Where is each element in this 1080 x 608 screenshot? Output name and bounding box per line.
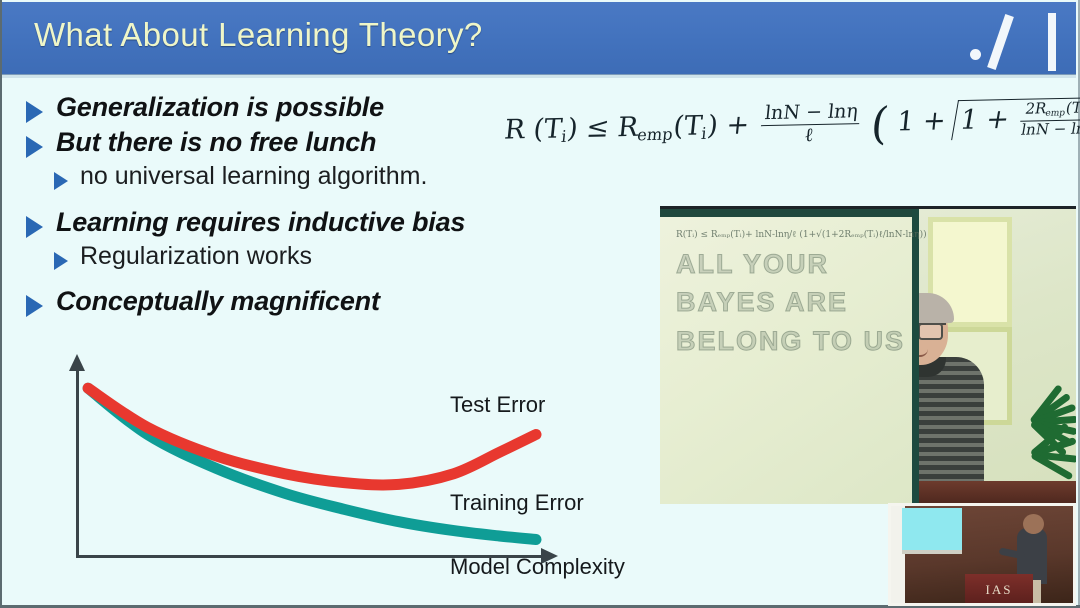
list-item-label: But there is no free lunch <box>56 127 376 158</box>
list-item-label: Conceptually magnificent <box>56 286 380 317</box>
list-item-label: Learning requires inductive bias <box>56 207 465 238</box>
list-item: Learning requires inductive bias <box>26 207 646 238</box>
formula-fraction-1: lnN − lnη ℓ <box>759 102 862 147</box>
list-item-label: Regularization works <box>80 242 312 271</box>
frac2-num-rest: (T <box>1064 99 1080 117</box>
triangle-bullet-icon <box>26 216 43 238</box>
x-axis-label: Model Complexity <box>450 554 625 580</box>
formula-fraction-2: 2Remp(Ti)ℓ lnN − lnη <box>1017 100 1080 138</box>
formula-lhs-close: ) <box>566 113 580 144</box>
list-item-label: Generalization is possible <box>56 92 384 123</box>
triangle-bullet-icon <box>54 172 68 190</box>
whiteboard-surface: R(Tᵢ) ≤ Rₑₘₚ(Tᵢ)+ lnN-lnη/ℓ (1+√(1+2Rₑₘₚ… <box>660 209 919 504</box>
series-label-training-error: Training Error <box>450 490 584 516</box>
formula-paren-open: ( <box>869 99 891 150</box>
page-title: What About Learning Theory? <box>34 16 483 54</box>
vertical-bar-icon <box>1048 13 1056 71</box>
whiteboard-photo: R(Tᵢ) ≤ Rₑₘₚ(Tᵢ)+ lnN-lnη/ℓ (1+√(1+2Rₑₘₚ… <box>660 206 1076 504</box>
formula-plus-2: + <box>921 105 947 136</box>
formula-relation: ≤ <box>585 112 611 143</box>
error-vs-complexity-chart: Test Error Training Error Model Complexi… <box>46 352 666 597</box>
pip-speaker-head <box>1023 514 1044 534</box>
slash-icon <box>987 14 1014 70</box>
brand-logo <box>960 8 1064 72</box>
handwritten-formula: R (Ti) ≤ Remp(Ti) + lnN − lnη ℓ ( 1 + 1 … <box>505 100 1080 198</box>
picture-in-picture-video[interactable]: IAS <box>888 503 1076 606</box>
triangle-bullet-icon <box>26 101 43 123</box>
frac2-num-sub: emp <box>1044 109 1065 119</box>
list-item: Regularization works <box>26 242 646 271</box>
fraction-numerator: lnN − lnη <box>761 102 862 126</box>
formula-lhs: R (T <box>503 113 564 145</box>
whiteboard-formula-text: R(Tᵢ) ≤ Rₑₘₚ(Tᵢ)+ lnN-lnη/ℓ (1+√(1+2Rₑₘₚ… <box>676 229 927 240</box>
pip-projection-screen <box>902 508 962 554</box>
triangle-bullet-icon <box>26 295 43 317</box>
triangle-bullet-icon <box>54 252 68 270</box>
slide-border-left <box>0 0 2 608</box>
formula-plus: + <box>725 110 751 141</box>
list-item-label: no universal learning algorithm. <box>80 162 427 191</box>
formula-rhs-arg-close: ) <box>706 110 720 141</box>
triangle-bullet-icon <box>26 136 43 158</box>
formula-sqrt: 1 + 2Remp(Ti)ℓ lnN − lnη <box>951 97 1080 140</box>
formula-one: 1 <box>896 106 916 137</box>
pip-podium-label: IAS <box>965 582 1033 598</box>
sqrt-lead: 1 + <box>958 104 1012 136</box>
slide-canvas: What About Learning Theory? Generalizati… <box>0 0 1080 608</box>
list-item: Conceptually magnificent <box>26 286 646 317</box>
person-glasses-right <box>918 323 943 340</box>
series-label-test-error: Test Error <box>450 392 545 418</box>
fraction-denominator: ℓ <box>759 124 860 147</box>
formula-rhs-sub: emp <box>636 125 673 145</box>
dot-icon <box>970 49 981 60</box>
whiteboard-top-edge <box>660 209 912 217</box>
fraction-denominator: lnN − lnη <box>1017 120 1080 138</box>
formula-rhs-arg: (T <box>672 111 704 143</box>
whiteboard-bubble-text: ALL YOUR BAYES ARE BELONG TO US <box>676 245 906 360</box>
slide-title-bar: What About Learning Theory? <box>2 2 1076 76</box>
